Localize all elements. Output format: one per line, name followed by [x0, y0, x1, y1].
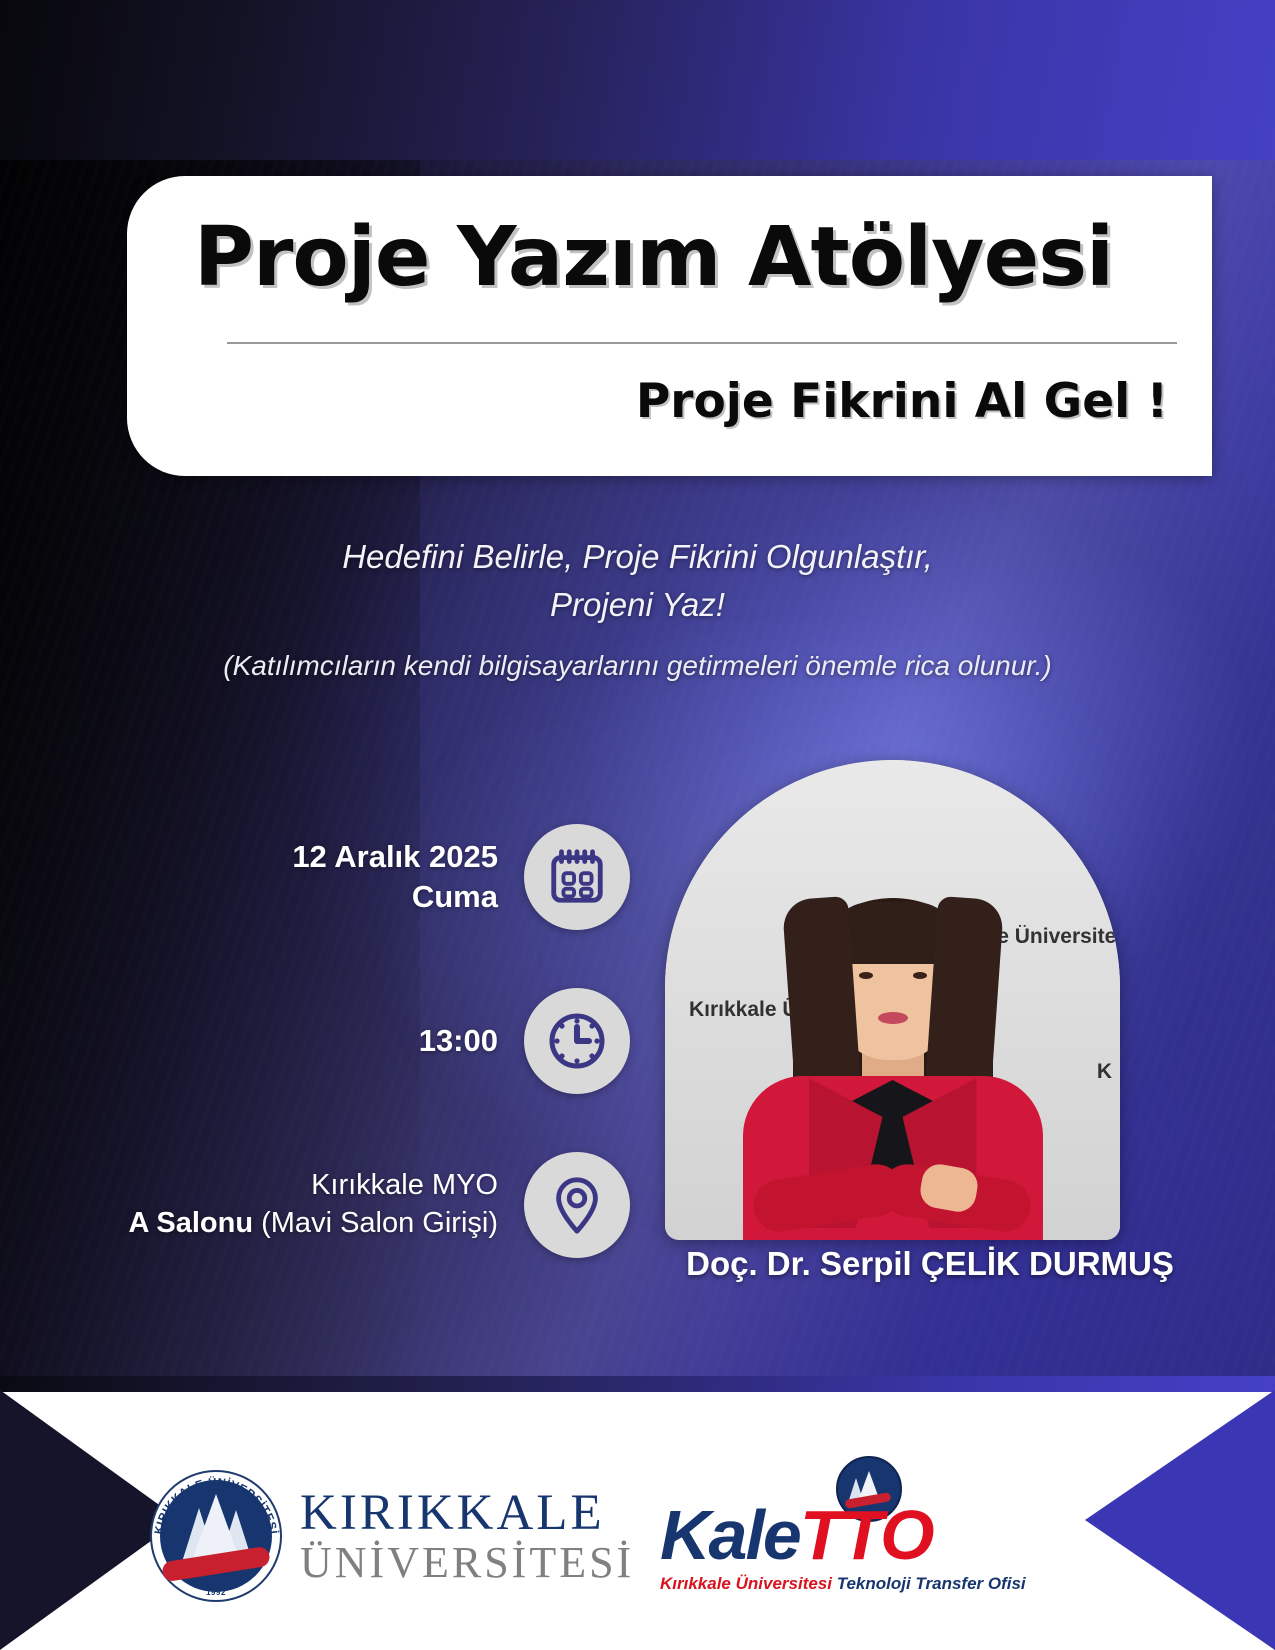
kaletto-kale: Kale [660, 1496, 800, 1574]
event-date-row: 12 Aralık 2025 Cuma [30, 795, 630, 959]
event-details: 12 Aralık 2025 Cuma 13:00 [30, 795, 630, 1287]
event-venue: Kırıkkale MYO [128, 1167, 498, 1205]
event-place-text: Kırıkkale MYO A Salonu (Mavi Salon Giriş… [128, 1167, 498, 1242]
seal-year: 1992 [206, 1588, 226, 1597]
background-top-bar [0, 0, 1275, 160]
slogan-line-1: Hedefini Belirle, Proje Fikrini Olgunlaş… [0, 533, 1275, 581]
participant-note: (Katılımcıların kendi bilgisayarlarını g… [0, 650, 1275, 682]
university-wordmark: KIRIKKALE ÜNİVERSİTESİ [300, 1488, 634, 1585]
portrait-eye-left [859, 972, 873, 979]
portrait-mouth [878, 1012, 908, 1024]
slogan-line-2: Projeni Yaz! [0, 581, 1275, 629]
university-name-line2: ÜNİVERSİTESİ [300, 1541, 634, 1585]
footer-band: KIRIKKALE ÜNİVERSİTESİ 1992 KIRIKKALE ÜN… [0, 1390, 1275, 1650]
svg-text:KIRIKKALE ÜNİVERSİTESİ: KIRIKKALE ÜNİVERSİTESİ [153, 1476, 279, 1535]
kaletto-tagline: Kırıkkale Üniversitesi Teknoloji Transfe… [660, 1574, 1080, 1594]
footer-right-triangle [1085, 1390, 1275, 1650]
event-date-text: 12 Aralık 2025 Cuma [292, 837, 498, 918]
kirikkale-university-logo: KIRIKKALE ÜNİVERSİTESİ 1992 KIRIKKALE ÜN… [150, 1470, 634, 1602]
university-seal-icon: KIRIKKALE ÜNİVERSİTESİ 1992 [150, 1470, 282, 1602]
title-card: Proje Yazım Atölyesi Proje Fikrini Al Ge… [127, 176, 1212, 476]
university-name-line1: KIRIKKALE [300, 1488, 634, 1539]
title-divider [227, 342, 1177, 344]
location-pin-icon [524, 1152, 630, 1258]
event-hall-bold: A Salonu [128, 1207, 253, 1239]
event-time-text: 13:00 [419, 1021, 498, 1061]
event-hall-rest: (Mavi Salon Girişi) [253, 1207, 498, 1239]
event-hall: A Salonu (Mavi Salon Girişi) [128, 1205, 498, 1243]
kaletto-wordmark: KaleTTO [660, 1500, 1080, 1570]
event-time-row: 13:00 [30, 959, 630, 1123]
speaker-portrait [733, 880, 1053, 1240]
calendar-icon [524, 824, 630, 930]
kaletto-tagline-red: Kırıkkale Üniversitesi [660, 1574, 832, 1593]
event-time: 13:00 [419, 1021, 498, 1061]
event-date: 12 Aralık 2025 [292, 837, 498, 877]
speaker-name: Doç. Dr. Serpil ÇELİK DURMUŞ [640, 1245, 1220, 1283]
kaletto-logo: KaleTTO Kırıkkale Üniversitesi Teknoloji… [660, 1448, 1080, 1608]
backdrop-text-3: K [1097, 1060, 1112, 1084]
slogan: Hedefini Belirle, Proje Fikrini Olgunlaş… [0, 533, 1275, 629]
event-day: Cuma [292, 877, 498, 917]
clock-icon [524, 988, 630, 1094]
event-place-row: Kırıkkale MYO A Salonu (Mavi Salon Giriş… [30, 1123, 630, 1287]
seal-arc-text: KIRIKKALE ÜNİVERSİTESİ [150, 1470, 282, 1602]
kaletto-tto: TTO [800, 1496, 933, 1574]
page-title: Proje Yazım Atölyesi [127, 210, 1180, 305]
seal-arc-label: KIRIKKALE ÜNİVERSİTESİ [153, 1476, 279, 1535]
page-subtitle: Proje Fikrini Al Gel ! [636, 374, 1168, 429]
kaletto-tagline-navy: Teknoloji Transfer Ofisi [832, 1574, 1026, 1593]
poster-root: Proje Yazım Atölyesi Proje Fikrini Al Ge… [0, 0, 1275, 1650]
portrait-eye-right [913, 972, 927, 979]
speaker-photo: ale Üniversites Kırıkkale Ü K [665, 760, 1120, 1240]
footer-top-edge [0, 1376, 1275, 1392]
